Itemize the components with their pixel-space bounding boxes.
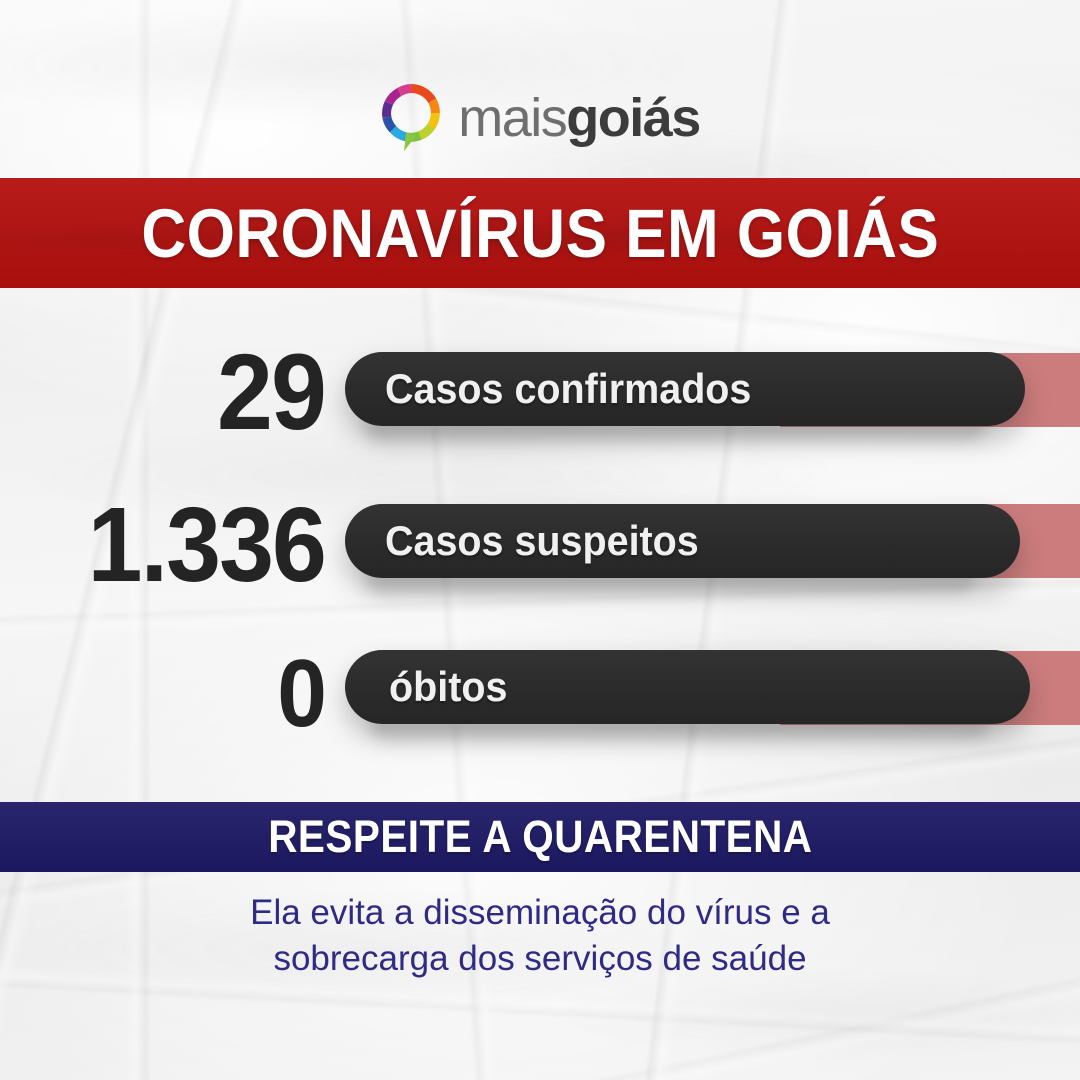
page-title: CORONAVÍRUS EM GOIÁS — [141, 194, 939, 273]
stat-row-suspected: 1.336 Casos suspeitos — [0, 482, 1080, 602]
stat-pill-suspected: Casos suspeitos — [345, 504, 1020, 578]
quarantine-banner: RESPEITE A QUARENTENA — [0, 802, 1080, 872]
statistics-section: 29 Casos confirmados 1.336 Casos suspeit… — [0, 330, 1080, 750]
stat-label-deaths: óbitos — [389, 663, 507, 711]
stat-pill-confirmed: Casos confirmados — [345, 352, 1025, 426]
brand-header: maisgoiás — [0, 72, 1080, 164]
stat-value-confirmed: 29 — [23, 338, 325, 446]
footer-line-1: Ela evita a disseminação do vírus e a — [0, 890, 1080, 936]
coronavirus-goias-infographic: maisgoiás CORONAVÍRUS EM GOIÁS 29 Casos … — [0, 0, 1080, 1080]
wordmark-mais: mais — [458, 88, 566, 148]
stat-label-confirmed: Casos confirmados — [385, 365, 751, 413]
footer-message: Ela evita a disseminação do vírus e a so… — [0, 890, 1080, 981]
wordmark-goias: goiás — [566, 88, 700, 148]
stat-value-suspected: 1.336 — [23, 492, 325, 598]
mais-goias-wordmark: maisgoiás — [458, 91, 700, 145]
quarantine-message: RESPEITE A QUARENTENA — [268, 811, 812, 863]
footer-line-2: sobrecarga dos serviços de saúde — [0, 936, 1080, 982]
title-banner: CORONAVÍRUS EM GOIÁS — [0, 178, 1080, 288]
stat-value-deaths: 0 — [23, 646, 325, 742]
stat-label-suspected: Casos suspeitos — [385, 517, 699, 565]
stat-row-confirmed: 29 Casos confirmados — [0, 330, 1080, 450]
stat-pill-deaths: óbitos — [345, 650, 1030, 724]
stat-row-deaths: 0 óbitos — [0, 630, 1080, 750]
mais-goias-ring-icon — [380, 83, 442, 153]
